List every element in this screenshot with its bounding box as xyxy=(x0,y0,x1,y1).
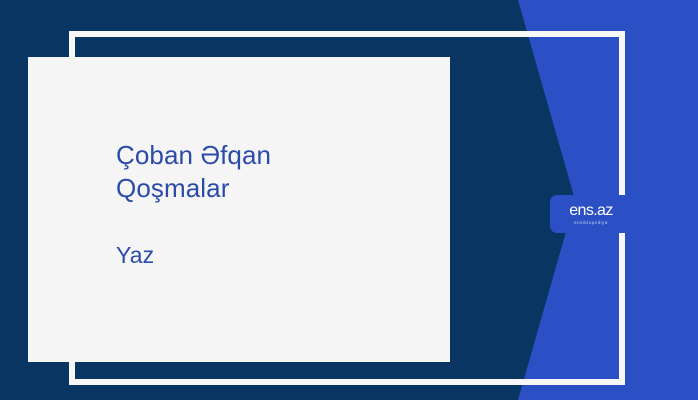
card-text-block: Çoban Əfqan Qoşmalar Yaz xyxy=(116,139,426,269)
page-title: Çoban Əfqan Qoşmalar xyxy=(116,139,426,206)
page-subtitle: Yaz xyxy=(116,206,426,270)
brand-tagline: ensiklopediya xyxy=(574,219,608,225)
slide-canvas: Çoban Əfqan Qoşmalar Yaz ens.az ensiklop… xyxy=(0,0,698,400)
brand-logo-badge[interactable]: ens.az ensiklopediya xyxy=(550,195,632,233)
content-card: Çoban Əfqan Qoşmalar Yaz xyxy=(28,57,450,362)
brand-wordmark: ens.az xyxy=(569,203,613,219)
